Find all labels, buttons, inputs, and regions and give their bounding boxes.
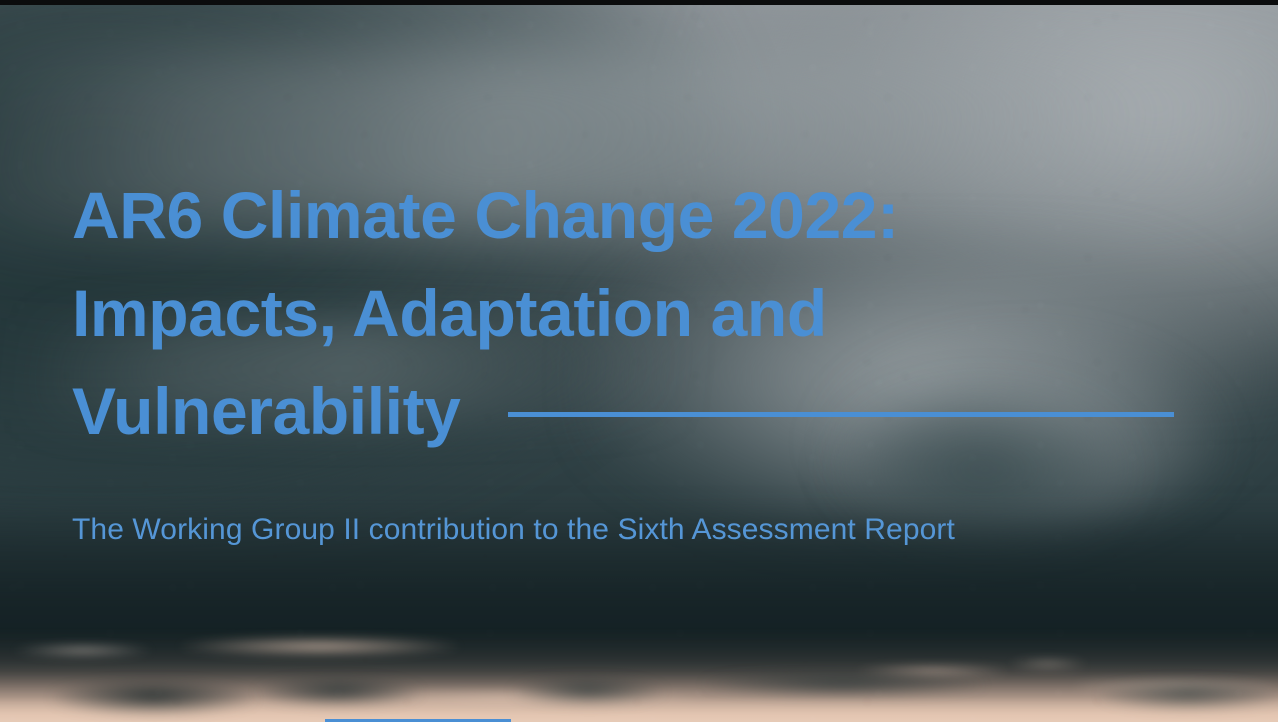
top-edge-bar	[0, 0, 1278, 5]
cover-content: AR6 Climate Change 2022: Impacts, Adapta…	[0, 0, 1278, 722]
report-cover-page: AR6 Climate Change 2022: Impacts, Adapta…	[0, 0, 1278, 722]
cover-subtitle: The Working Group II contribution to the…	[72, 510, 955, 550]
title-underline-rule	[508, 412, 1174, 417]
cover-title-line-1: AR6 Climate Change 2022:	[72, 166, 1102, 264]
cover-title-line-3: Vulnerability	[72, 362, 1102, 460]
cover-title-line-2: Impacts, Adaptation and	[72, 264, 1102, 362]
